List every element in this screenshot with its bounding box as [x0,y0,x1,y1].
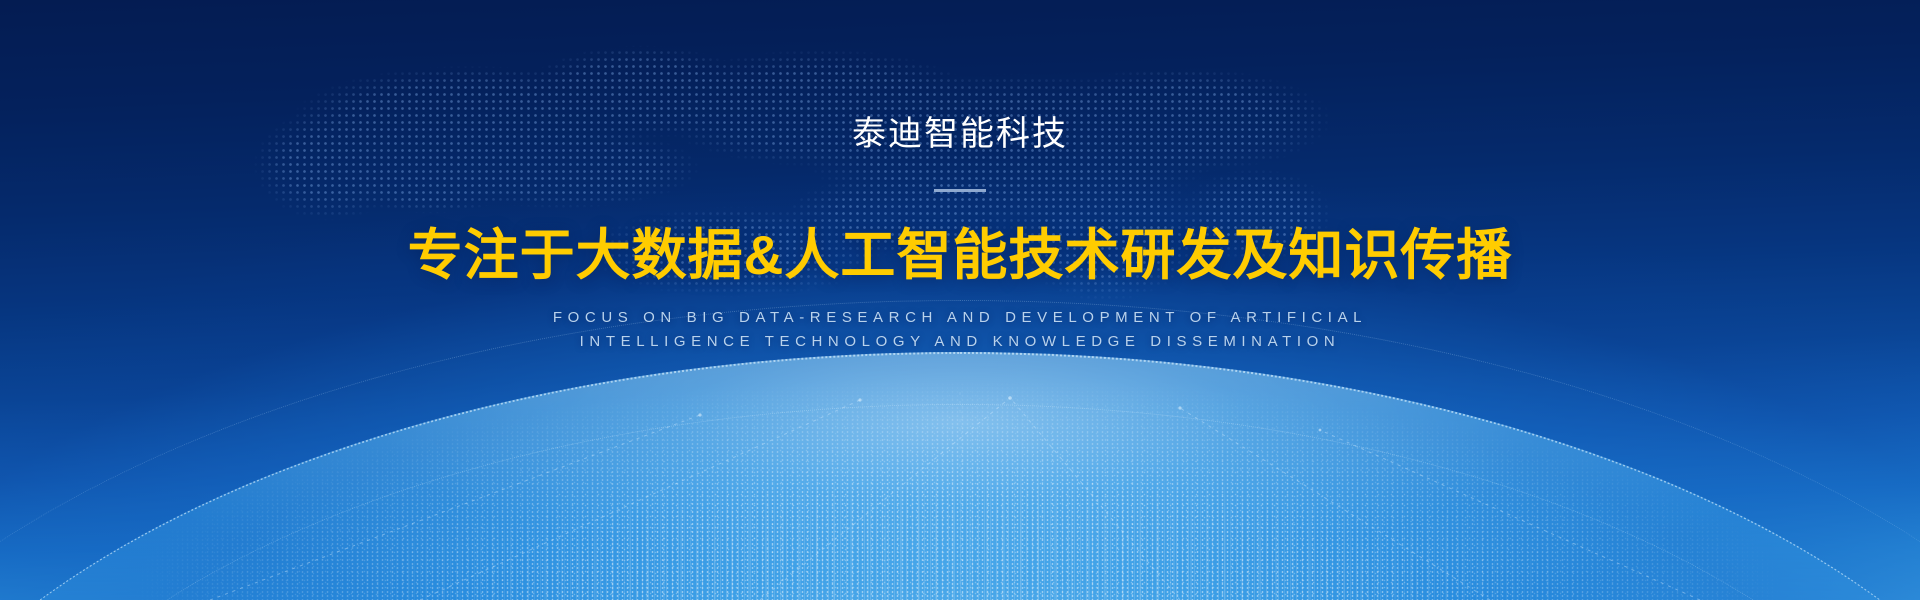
globe-glow [0,352,1920,600]
brand-title: 泰迪智能科技 [0,0,1920,155]
headline: 专注于大数据&人工智能技术研发及知识传播 [0,192,1920,289]
globe-rim-arc [0,352,1920,600]
city-lights-texture [0,330,1920,600]
subline-primary: FOCUS ON BIG DATA-RESEARCH AND DEVELOPME… [0,289,1920,330]
globe-rim-inner-arc [0,404,1920,600]
city-skyline-texture [0,400,1920,600]
banner-content: 泰迪智能科技 专注于大数据&人工智能技术研发及知识传播 FOCUS ON BIG… [0,0,1920,354]
subline-secondary: INTELLIGENCE TECHNOLOGY AND KNOWLEDGE DI… [0,330,1920,354]
hero-banner: 泰迪智能科技 专注于大数据&人工智能技术研发及知识传播 FOCUS ON BIG… [0,0,1920,600]
